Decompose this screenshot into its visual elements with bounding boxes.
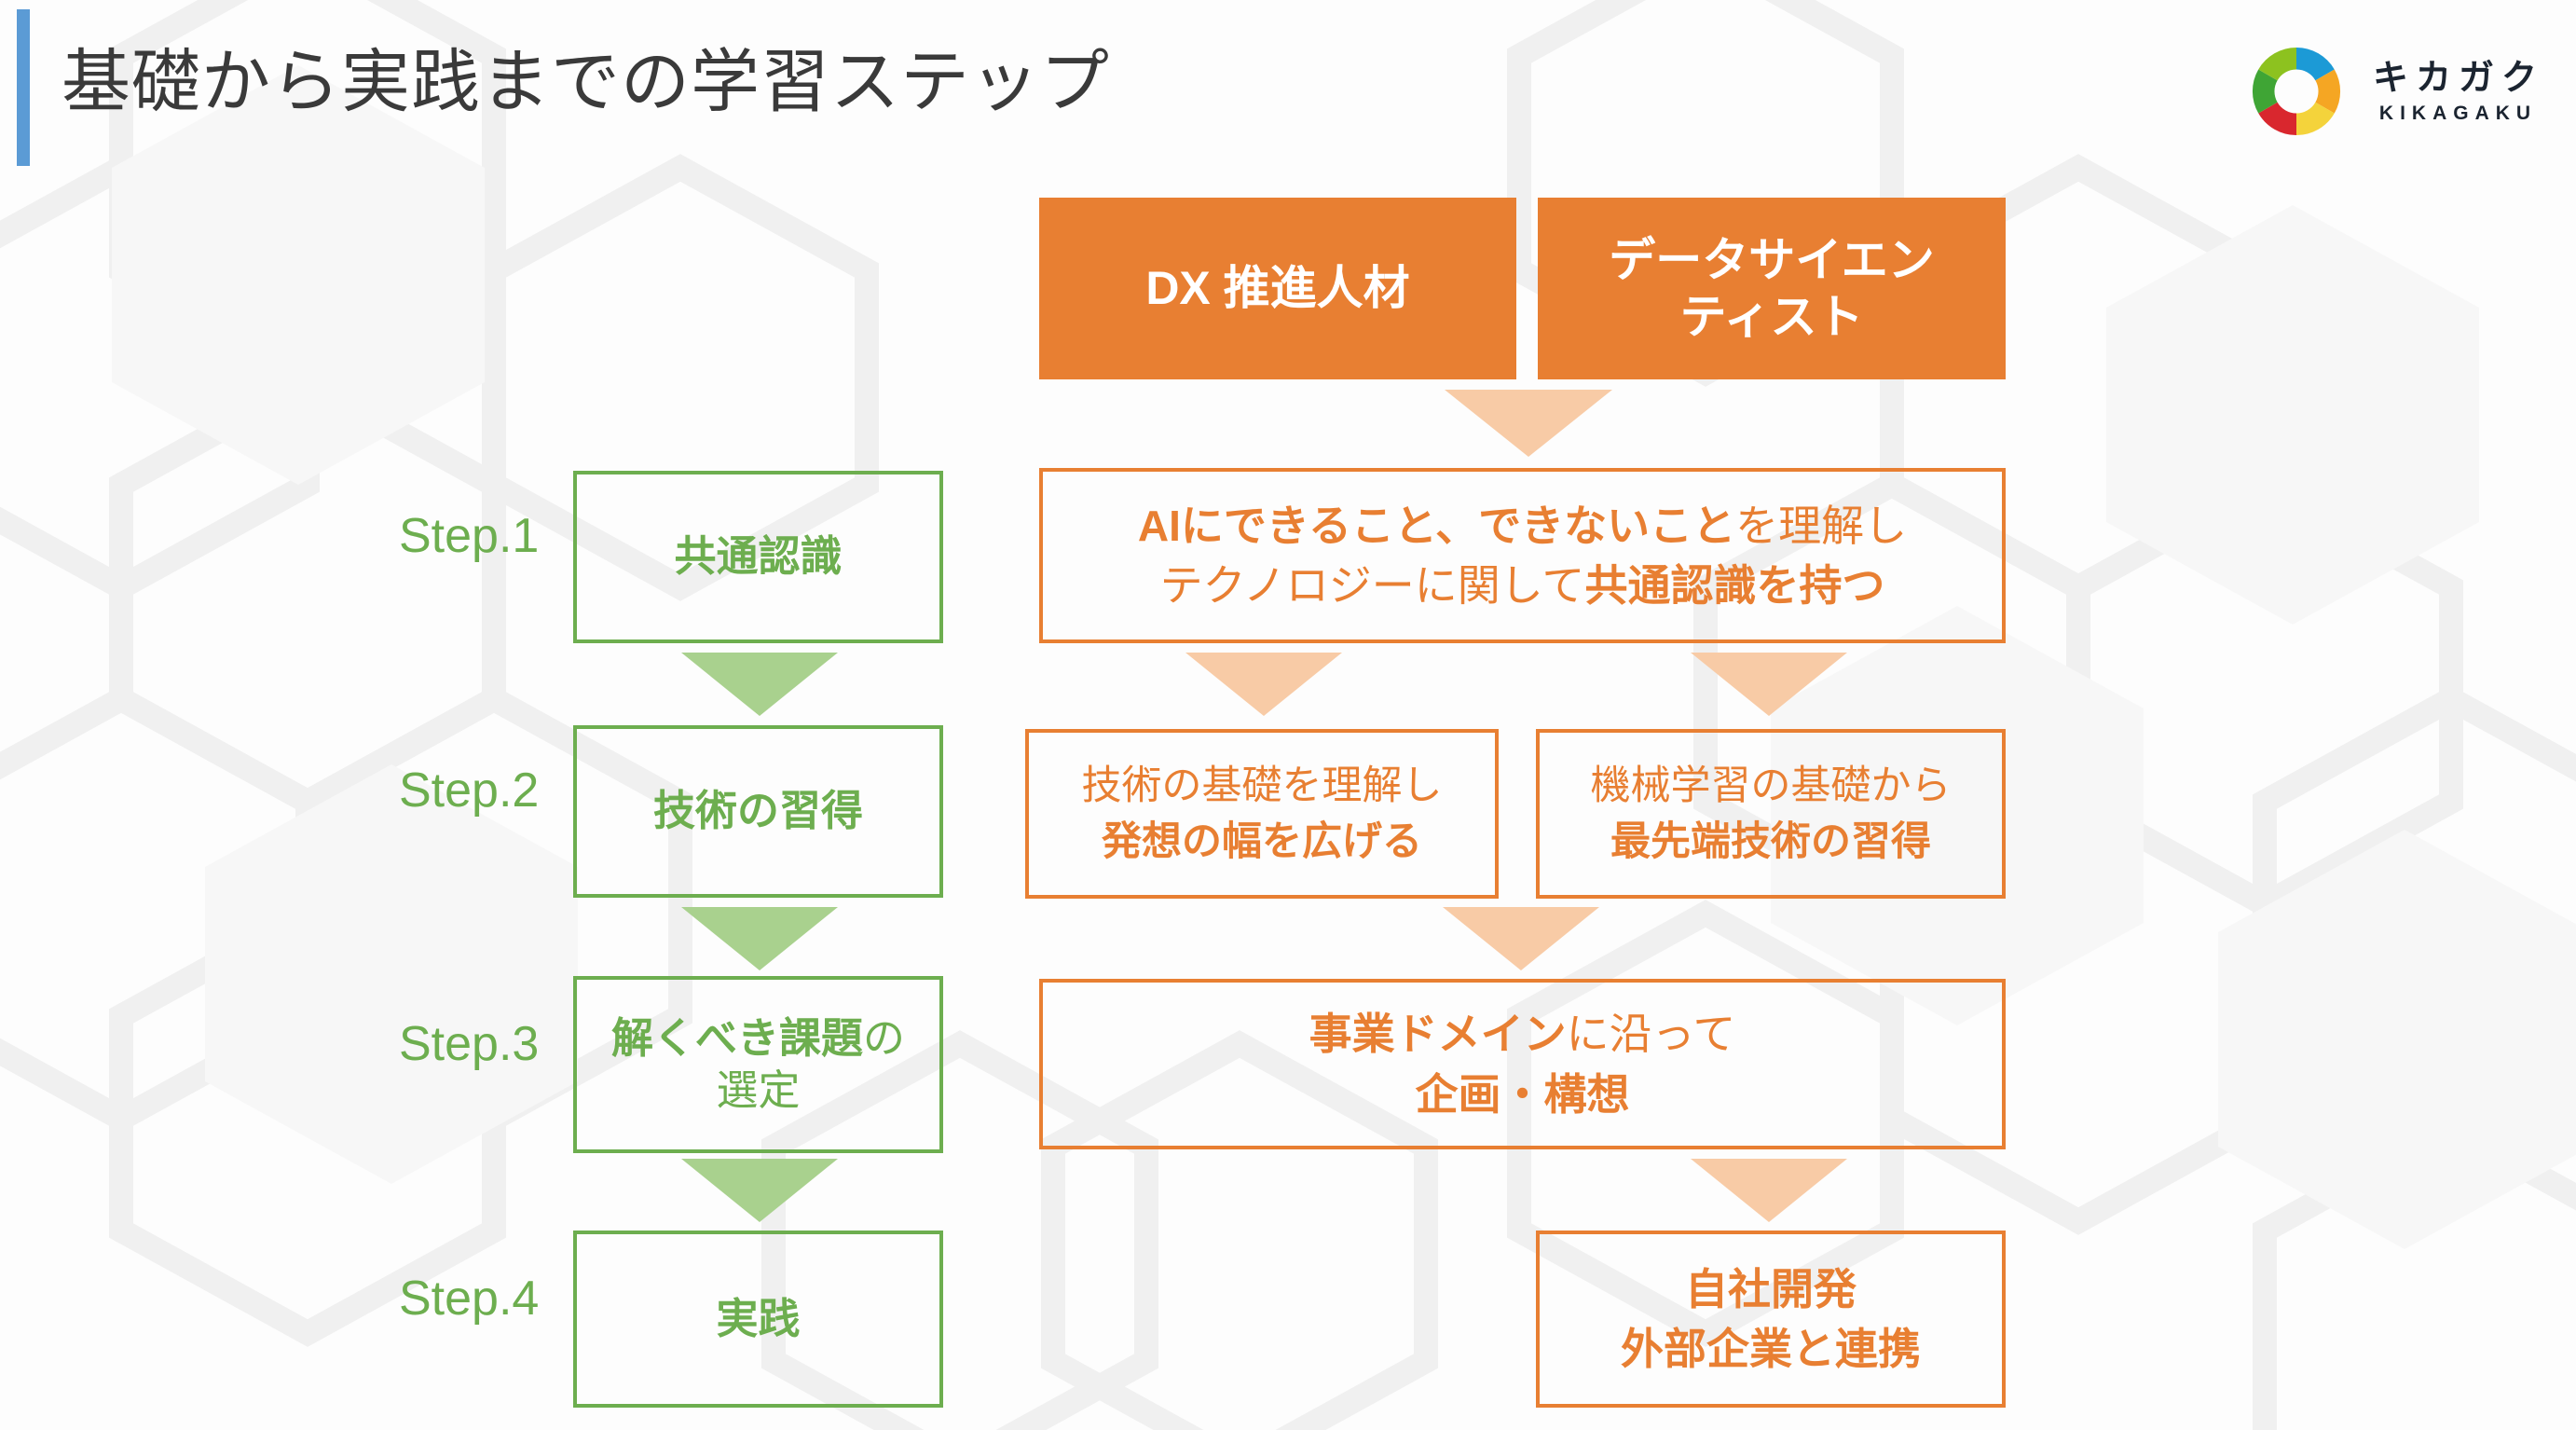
step-2-ds-line1: 機械学習の基礎から bbox=[1591, 763, 1952, 808]
step-2-right-box-ds[interactable]: 機械学習の基礎から 最先端技術の習得 bbox=[1536, 729, 2006, 899]
step-label-3: Step.3 bbox=[399, 1016, 539, 1072]
step-1-right-line2-bold: 共通認識を持つ bbox=[1584, 561, 1884, 610]
logo-wordmark: キカガク KIKAGAKU bbox=[2365, 61, 2544, 123]
slide-canvas: 基礎から実践までの学習ステップ キカガク KIKAGAKU DX 推進人材 デー… bbox=[0, 0, 2576, 1430]
step-2-left-box[interactable]: 技術の習得 bbox=[573, 725, 943, 898]
step-2-dx-line1: 技術の基礎を理解し bbox=[1082, 763, 1443, 808]
step-1-right-box[interactable]: AIにできること、できないことを理解し テクノロジーに関して共通認識を持つ bbox=[1039, 468, 2006, 643]
step-4-left-box[interactable]: 実践 bbox=[573, 1231, 943, 1408]
step-3-right-line2-bold: 企画・構想 bbox=[1416, 1070, 1630, 1119]
step-3-left-line1-normal: の bbox=[863, 1014, 905, 1062]
step-1-right-line1-normal: を理解し bbox=[1735, 502, 1907, 550]
step-2-ds-line2: 最先端技術の習得 bbox=[1610, 819, 1931, 864]
arrow-step2-to-step3-right bbox=[1443, 907, 1599, 970]
step-3-right-line1-normal: に沿って bbox=[1567, 1010, 1736, 1058]
page-title: 基礎から実践までの学習ステップ bbox=[62, 26, 1110, 126]
step-1-left-box[interactable]: 共通認識 bbox=[573, 471, 943, 643]
arrow-step1-to-step2-ds bbox=[1691, 653, 1847, 716]
step-2-dx-line2: 発想の幅を広げる bbox=[1102, 819, 1422, 864]
arrow-headers-to-step1 bbox=[1445, 390, 1612, 457]
step-4-right-box-ds[interactable]: 自社開発 外部企業と連携 bbox=[1536, 1231, 2006, 1408]
step-3-right-line1-bold: 事業ドメイン bbox=[1309, 1010, 1567, 1058]
step-label-1: Step.1 bbox=[399, 508, 539, 564]
step-1-right-line1-bold: AIにできること、できないこと bbox=[1138, 502, 1735, 550]
arrow-step3-to-step4-right bbox=[1691, 1159, 1847, 1222]
arrow-step3-to-step4-left bbox=[681, 1159, 838, 1222]
step-2-left-text: 技術の習得 bbox=[653, 787, 863, 834]
step-2-right-box-dx[interactable]: 技術の基礎を理解し 発想の幅を広げる bbox=[1025, 729, 1499, 899]
step-4-ds-line2: 外部企業と連携 bbox=[1621, 1325, 1921, 1373]
column-header-ds-label-line2: ティスト bbox=[1680, 289, 1864, 346]
step-4-ds-line1: 自社開発 bbox=[1685, 1265, 1857, 1313]
kikagaku-swirl-icon bbox=[2244, 39, 2349, 144]
step-3-right-box[interactable]: 事業ドメインに沿って 企画・構想 bbox=[1039, 979, 2006, 1149]
arrow-step2-to-step3-left bbox=[681, 907, 838, 970]
step-1-left-text: 共通認識 bbox=[674, 532, 842, 580]
column-header-dx[interactable]: DX 推進人材 bbox=[1039, 198, 1516, 379]
step-label-2: Step.2 bbox=[399, 763, 539, 818]
brand-logo: キカガク KIKAGAKU bbox=[2244, 39, 2544, 144]
column-header-dx-label: DX 推進人材 bbox=[1145, 260, 1409, 317]
title-accent-bar bbox=[17, 9, 30, 166]
arrow-step1-to-step2-left bbox=[681, 653, 838, 716]
step-3-left-line2: 選定 bbox=[716, 1066, 800, 1114]
step-3-left-box[interactable]: 解くべき課題の 選定 bbox=[573, 976, 943, 1153]
step-3-left-line1-bold: 解くべき課題 bbox=[611, 1014, 863, 1062]
logo-en-text: KIKAGAKU bbox=[2373, 103, 2537, 123]
step-label-4: Step.4 bbox=[399, 1271, 539, 1327]
logo-jp-text: キカガク bbox=[2365, 61, 2544, 96]
step-1-right-line2-normal: テクノロジーに関して bbox=[1160, 561, 1585, 610]
column-header-ds[interactable]: データサイエン ティスト bbox=[1538, 198, 2006, 379]
column-header-ds-label-line1: データサイエン bbox=[1609, 232, 1935, 289]
arrow-step1-to-step2-dx bbox=[1185, 653, 1342, 716]
step-4-left-text: 実践 bbox=[716, 1295, 800, 1342]
